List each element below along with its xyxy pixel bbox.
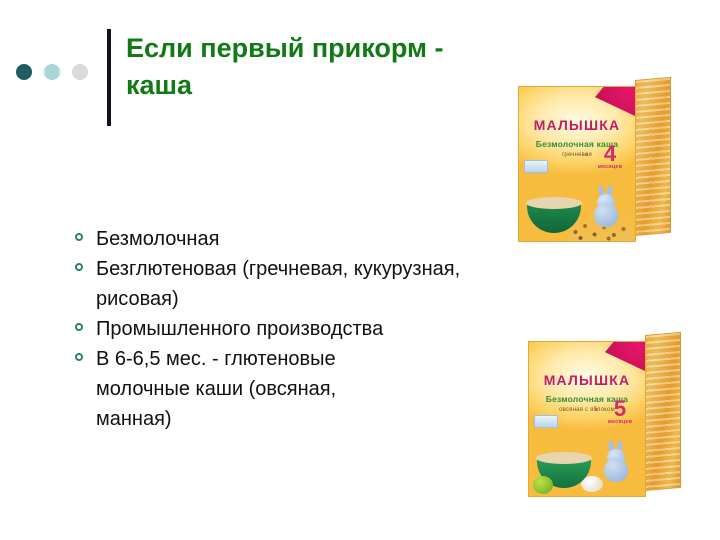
age-number: 4 bbox=[593, 144, 627, 164]
list-item-continuation-2: манная) bbox=[96, 404, 542, 434]
milk-free-tag-icon bbox=[524, 160, 548, 173]
dot-dark-teal-icon bbox=[16, 64, 32, 80]
age-suffix: месяцев bbox=[603, 419, 637, 425]
list-item-label: В 6-6,5 мес. - глютеновые bbox=[96, 348, 336, 370]
list-item: Безглютеновая (гречневая, кукурузная, ри… bbox=[72, 254, 542, 314]
age-suffix: месяцев bbox=[593, 164, 627, 170]
age-prefix: с bbox=[595, 407, 598, 413]
product-image-oatmeal-apple-porridge: МАЛЫШКА Безмолочная каша овсяная с яблок… bbox=[528, 335, 698, 501]
list-item: Промышленного производства bbox=[72, 314, 542, 344]
dot-gray-icon bbox=[72, 64, 88, 80]
list-item: Безмолочная bbox=[72, 224, 542, 254]
bullet-list: Безмолочная Безглютеновая (гречневая, ку… bbox=[72, 224, 542, 434]
product-brand: МАЛЫШКА bbox=[529, 372, 645, 388]
apple-icon bbox=[533, 476, 553, 494]
bullet-circle-icon bbox=[75, 353, 83, 361]
age-number: 5 bbox=[603, 399, 637, 419]
list-item-label: Промышленного производства bbox=[96, 318, 383, 340]
bullet-circle-icon bbox=[75, 263, 83, 271]
bunny-mascot-icon bbox=[601, 442, 631, 482]
list-item-continuation: молочные каши (овсяная, bbox=[96, 374, 542, 404]
corner-flash-icon bbox=[595, 86, 636, 117]
list-item-label: Безмолочная bbox=[96, 228, 219, 250]
title-accent-bar bbox=[107, 29, 111, 126]
milk-free-tag-icon bbox=[534, 415, 558, 428]
page-title: Если первый прикорм - каша bbox=[126, 30, 486, 104]
product-image-buckwheat-porridge: МАЛЫШКА Безмолочная каша гречневая с 4 м… bbox=[518, 80, 688, 246]
dot-light-teal-icon bbox=[44, 64, 60, 80]
list-item-label: Безглютеновая (гречневая, кукурузная, bbox=[96, 258, 460, 280]
carton-side-panel bbox=[635, 77, 671, 236]
product-brand: МАЛЫШКА bbox=[519, 117, 635, 133]
age-badge: с 5 месяцев bbox=[603, 399, 637, 425]
list-item-continuation: рисовая) bbox=[96, 284, 542, 314]
list-item: В 6-6,5 мес. - глютеновые молочные каши … bbox=[72, 344, 542, 434]
decorative-dots bbox=[16, 64, 88, 80]
age-badge: с 4 месяцев bbox=[593, 144, 627, 170]
bullet-circle-icon bbox=[75, 323, 83, 331]
corner-flash-icon bbox=[605, 341, 646, 372]
carton-front-panel: МАЛЫШКА Безмолочная каша овсяная с яблок… bbox=[528, 341, 646, 497]
age-prefix: с bbox=[585, 152, 588, 158]
bunny-mascot-icon bbox=[591, 187, 621, 227]
carton-side-panel bbox=[645, 332, 681, 491]
carton-front-panel: МАЛЫШКА Безмолочная каша гречневая с 4 м… bbox=[518, 86, 636, 242]
slide-canvas: Если первый прикорм - каша Безмолочная Б… bbox=[0, 0, 720, 540]
bullet-circle-icon bbox=[75, 233, 83, 241]
